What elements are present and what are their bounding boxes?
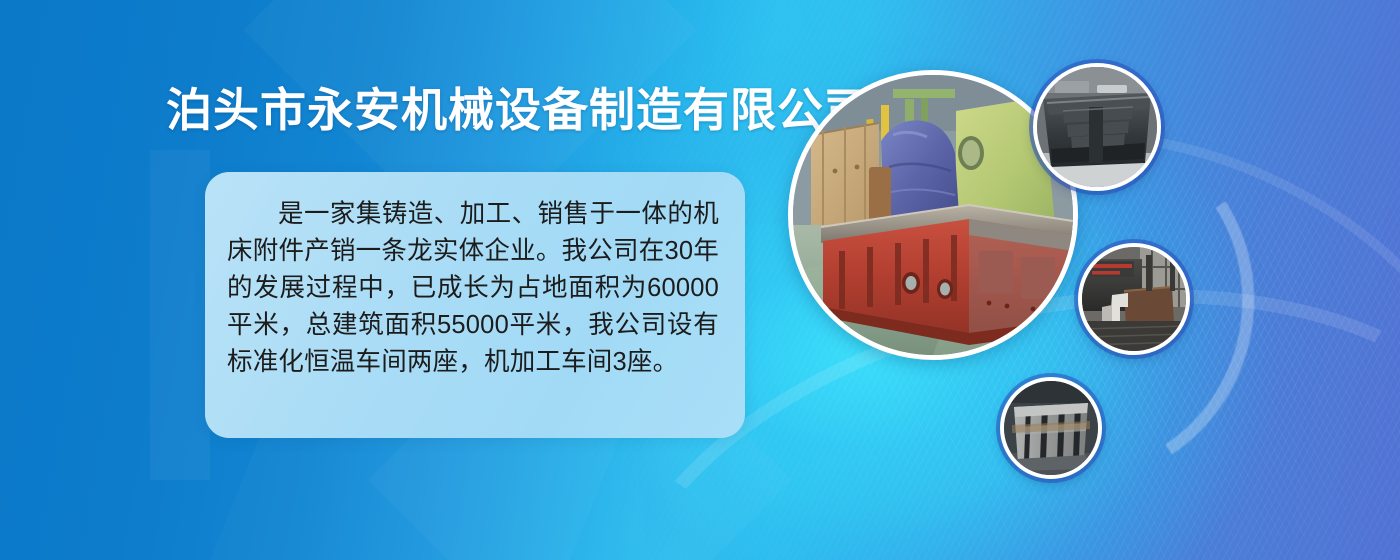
company-banner: 泊头市永安机械设备制造有限公司 是一家集铸造、加工、销售于一体的机床附件产销一条… bbox=[0, 0, 1400, 560]
dark-casting-frame-photo bbox=[1037, 67, 1157, 187]
factory-workshop-photo bbox=[1082, 247, 1186, 351]
company-description-text: 是一家集铸造、加工、销售于一体的机床附件产销一条龙实体企业。我公司在30年的发展… bbox=[227, 196, 719, 381]
company-description-card: 是一家集铸造、加工、销售于一体的机床附件产销一条龙实体企业。我公司在30年的发展… bbox=[205, 172, 745, 438]
company-title: 泊头市永安机械设备制造有限公司 bbox=[166, 74, 871, 140]
thumb-photo-circle-3 bbox=[1000, 377, 1102, 479]
thumb-photo-circle-1 bbox=[1033, 63, 1161, 191]
machine-bed-casting-photo bbox=[793, 75, 1073, 355]
stacked-castings-photo bbox=[1004, 381, 1098, 475]
background-facet-shape bbox=[150, 150, 210, 480]
thumb-photo-circle-2 bbox=[1078, 243, 1190, 355]
